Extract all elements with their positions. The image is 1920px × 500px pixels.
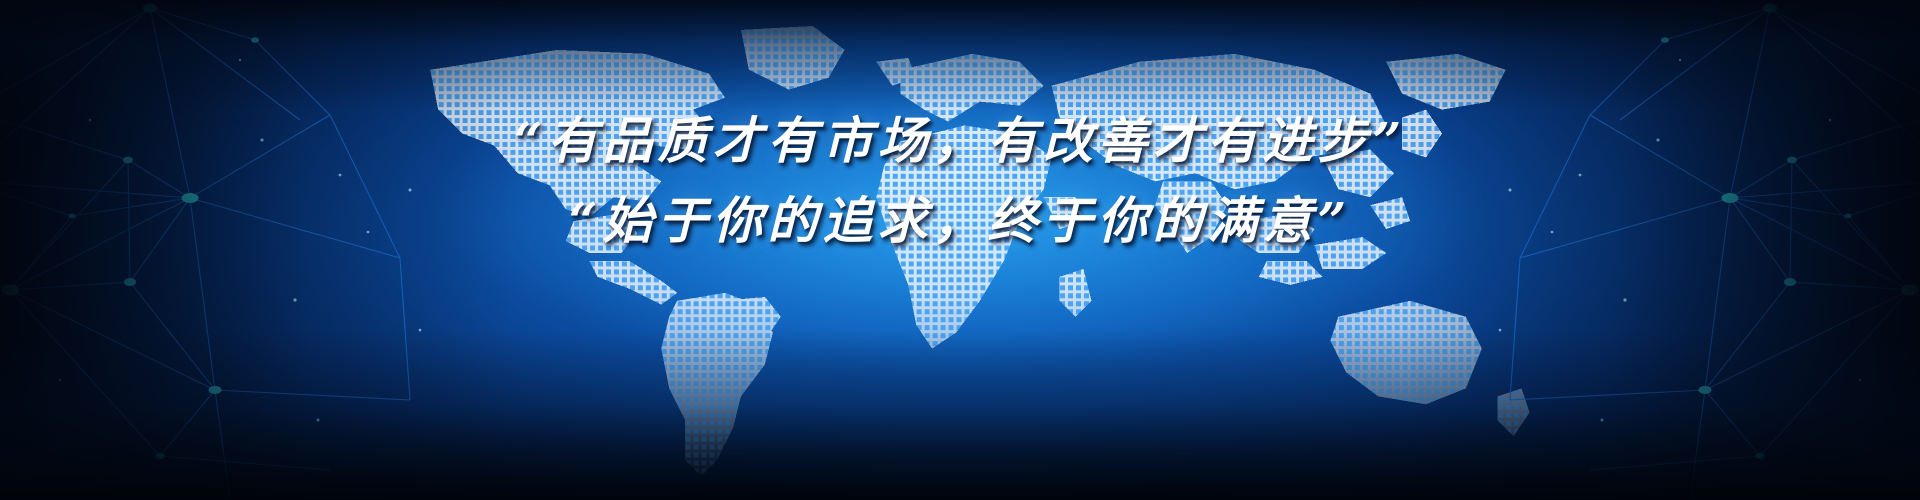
headline-line-2: “始于你的追求，终于你的满意” <box>0 188 1920 254</box>
headline-line-1: “有品质才有市场，有改善才有进步” <box>0 108 1920 174</box>
banner-headline: “有品质才有市场，有改善才有进步” “始于你的追求，终于你的满意” <box>0 108 1920 254</box>
promo-banner: “有品质才有市场，有改善才有进步” “始于你的追求，终于你的满意” <box>0 0 1920 500</box>
